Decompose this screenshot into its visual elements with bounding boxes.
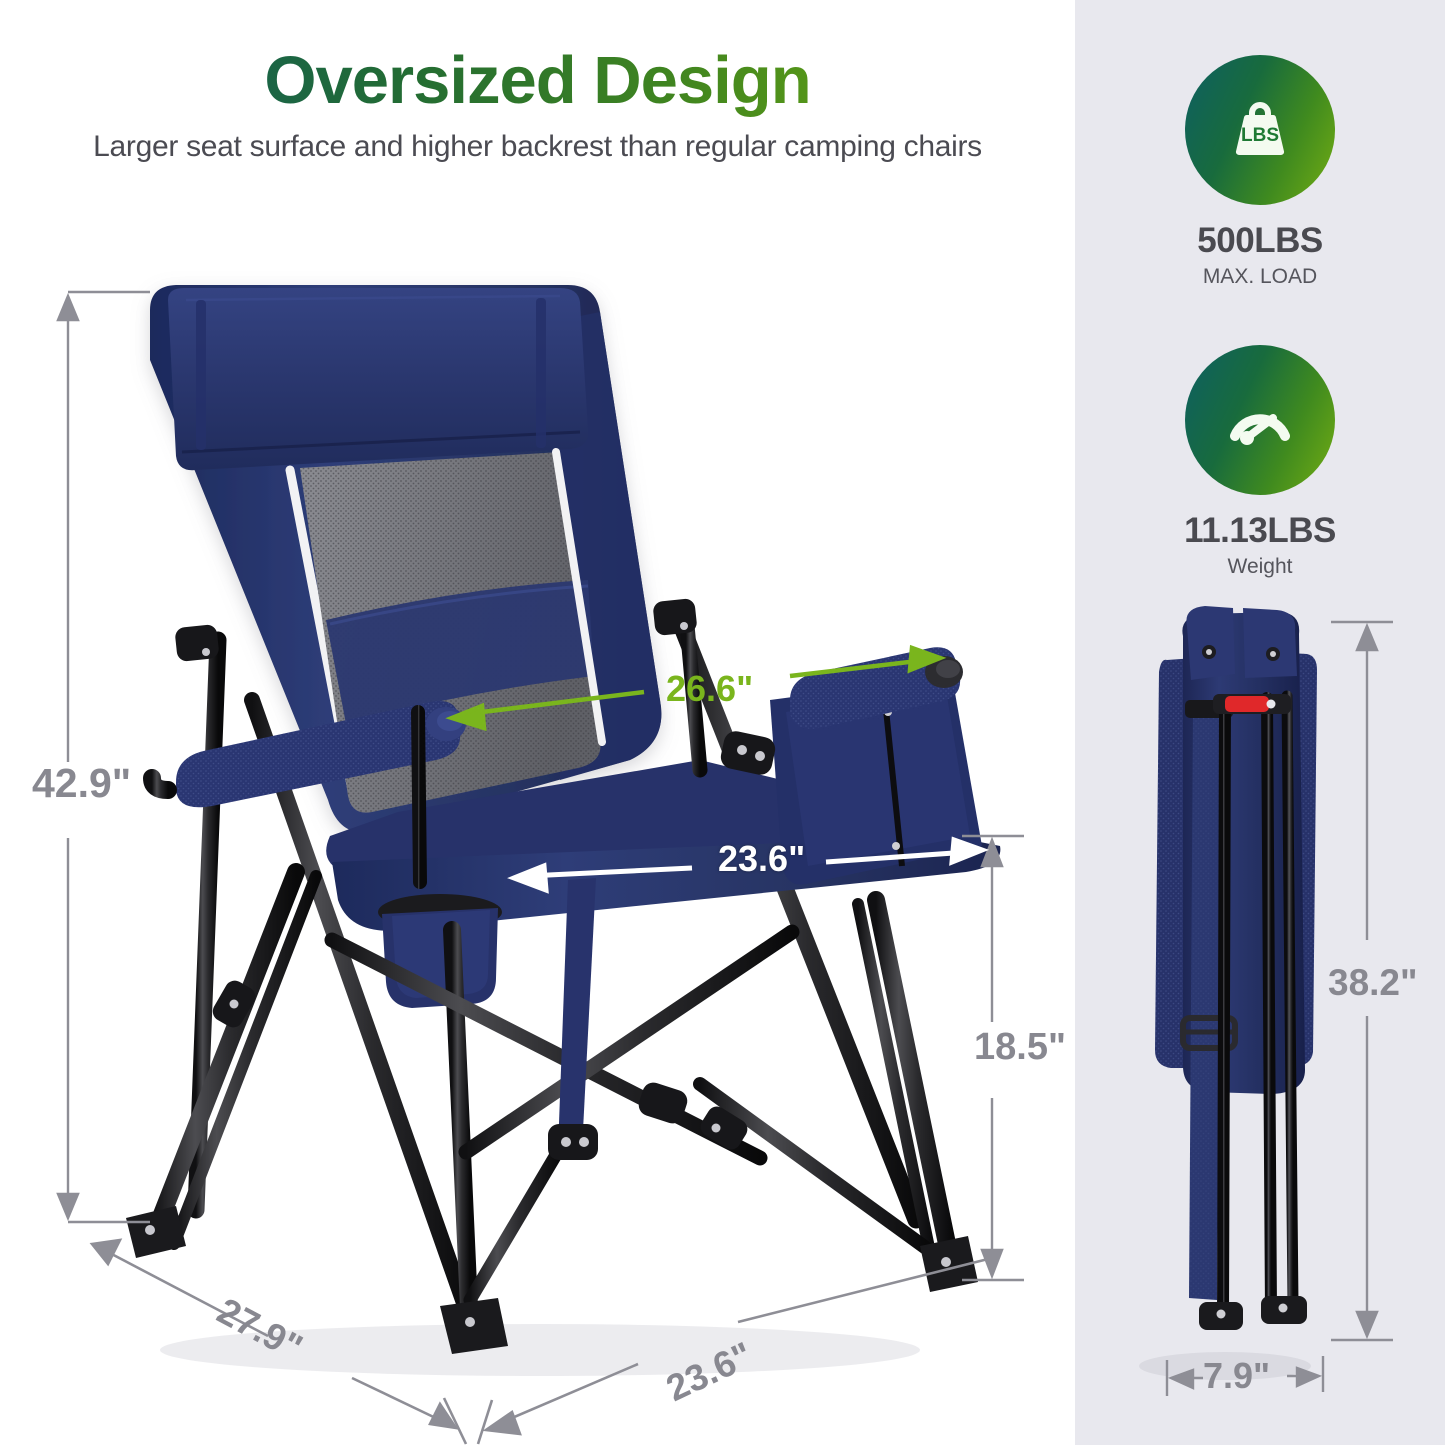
infographic-canvas: Oversized Design Larger seat surface and… <box>0 0 1445 1445</box>
main-chair-illustration <box>0 0 1075 1445</box>
spec-badge-max-load: LBS 500LBS MAX. LOAD <box>1075 55 1445 289</box>
gauge-icon <box>1185 345 1335 495</box>
dimension-label-folded-width: 7.9" <box>1203 1355 1270 1397</box>
spec-badge-weight: 11.13LBS Weight <box>1075 345 1445 579</box>
dimension-label-armrest-width: 26.6" <box>666 668 753 710</box>
weight-lbs-icon: LBS <box>1185 55 1335 205</box>
svg-text:LBS: LBS <box>1241 125 1279 146</box>
dimension-label-seat-height: 18.5" <box>974 1026 1066 1069</box>
spec-value-max-load: 500LBS <box>1075 221 1445 261</box>
dimension-label-overall-height: 42.9" <box>32 760 131 807</box>
spec-sidebar: LBS 500LBS MAX. LOAD 11.13LBS Weight <box>1075 0 1445 1445</box>
folded-chair-illustration <box>1075 600 1445 1420</box>
spec-caption-weight: Weight <box>1075 555 1445 579</box>
spec-caption-max-load: MAX. LOAD <box>1075 265 1445 289</box>
dimension-label-seat-width: 23.6" <box>718 838 805 880</box>
spec-value-weight: 11.13LBS <box>1075 511 1445 551</box>
dimension-label-folded-height: 38.2" <box>1328 962 1418 1004</box>
